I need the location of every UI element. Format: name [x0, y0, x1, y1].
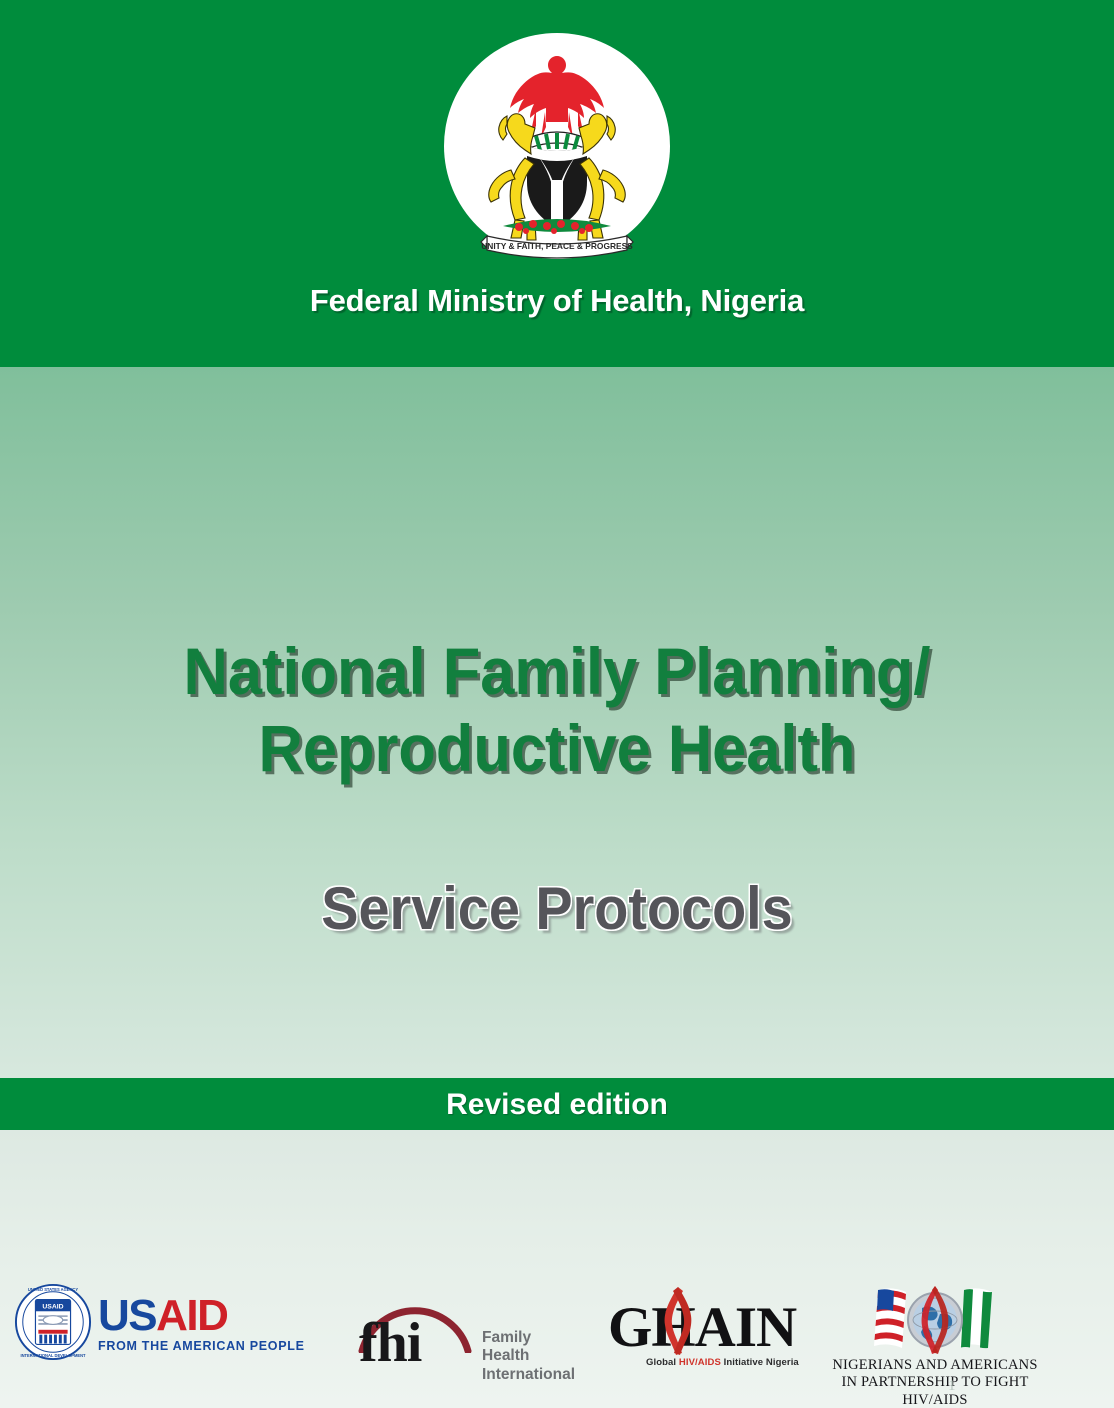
usaid-wordmark-aid: AID	[156, 1291, 227, 1340]
ministry-title: Federal Ministry of Health, Nigeria	[0, 283, 1114, 319]
ghain-tagline-post: Initiative Nigeria	[721, 1357, 799, 1368]
header-green-band: UNITY & FAITH, PEACE & PROGRESS Federal …	[0, 0, 1114, 367]
fhi-full-name: Family Health International	[482, 1329, 575, 1384]
page-subtitle: Service Protocols	[39, 874, 1075, 943]
partnership-caption: NIGERIANS AND AMERICANS IN PARTNERSHIP T…	[820, 1357, 1050, 1408]
page-title: National Family Planning/ Reproductive H…	[39, 633, 1075, 786]
usaid-seal-wordmark: USAID	[42, 1303, 63, 1310]
svg-text:UNITED STATES AGENCY: UNITED STATES AGENCY	[28, 1287, 79, 1292]
usaid-tagline: FROM THE AMERICAN PEOPLE	[98, 1339, 305, 1353]
partner-logo-row: UNITED STATES AGENCY INTERNATIONAL DEVEL…	[0, 1283, 1114, 1403]
ghain-tagline: Global HIV/AIDS Initiative Nigeria	[646, 1357, 799, 1368]
page-number: 1	[948, 1378, 956, 1395]
flags-globe-ribbon-icon	[860, 1282, 1010, 1356]
partnership-logo: NIGERIANS AND AMERICANS IN PARTNERSHIP T…	[820, 1283, 1050, 1408]
ghain-logo: GHAIN Global HIV/AIDS Initiative Nigeria	[608, 1283, 808, 1375]
ghain-tagline-pre: Global	[646, 1357, 679, 1368]
crest-motto-text: UNITY & FAITH, PEACE & PROGRESS	[481, 241, 633, 251]
document-cover-page: UNITY & FAITH, PEACE & PROGRESS Federal …	[0, 0, 1114, 1408]
usaid-wordmark-us: US	[98, 1291, 156, 1340]
aids-ribbon-icon	[655, 1285, 701, 1359]
edition-label: Revised edition	[0, 1088, 1114, 1122]
usaid-logo: UNITED STATES AGENCY INTERNATIONAL DEVEL…	[14, 1283, 314, 1361]
ghain-tagline-highlight: HIV/AIDS	[679, 1357, 721, 1368]
fhi-logo: fhi Family Health International	[355, 1283, 575, 1375]
usaid-seal-icon: UNITED STATES AGENCY INTERNATIONAL DEVEL…	[14, 1283, 92, 1361]
fhi-wordmark: fhi	[359, 1315, 421, 1371]
nigeria-coat-of-arms-icon: UNITY & FAITH, PEACE & PROGRESS	[441, 30, 673, 262]
ghain-wordmark: GHAIN	[608, 1299, 796, 1356]
edition-green-band: Revised edition	[0, 1078, 1114, 1130]
svg-text:INTERNATIONAL DEVELOPMENT: INTERNATIONAL DEVELOPMENT	[20, 1353, 86, 1358]
coat-of-arms-emblem: UNITY & FAITH, PEACE & PROGRESS	[441, 30, 673, 262]
